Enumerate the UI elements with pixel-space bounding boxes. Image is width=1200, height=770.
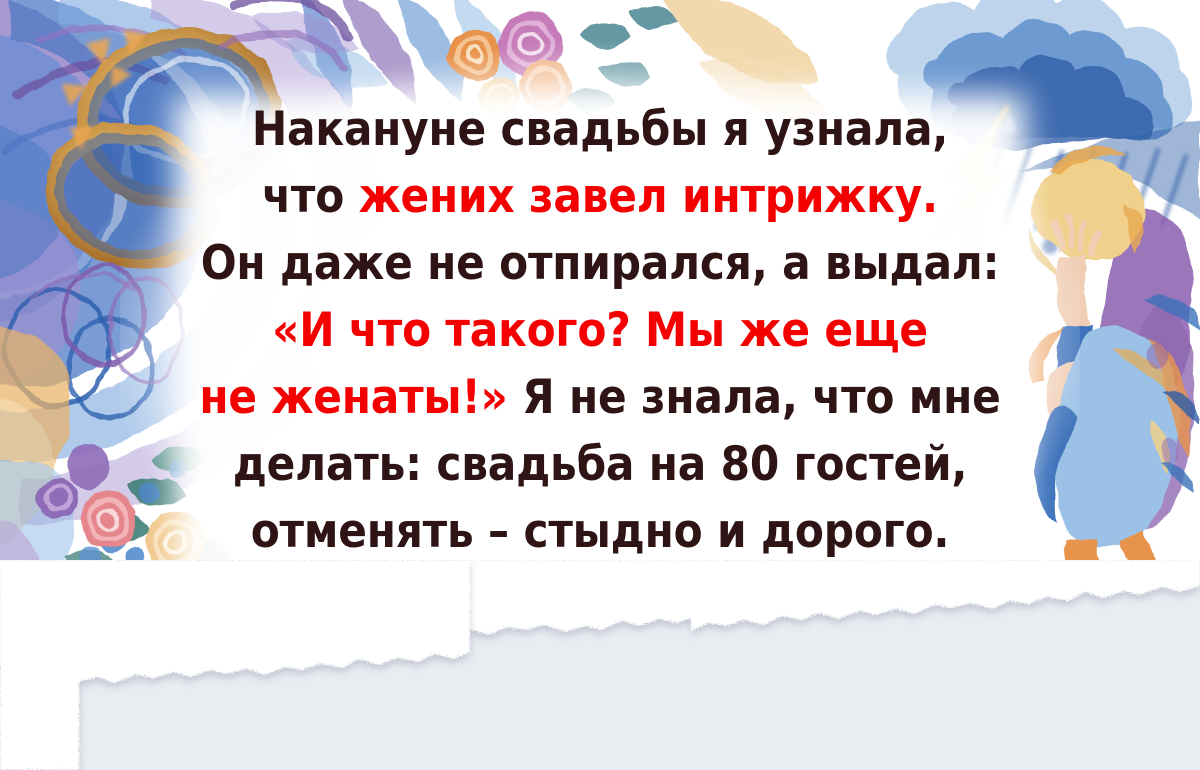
- story-line-1-text: Накануне свадьбы я узнала,: [252, 102, 948, 157]
- story-line-6: делать: свадьба на 80 гостей,: [160, 431, 1040, 498]
- story-line-4: «И что такого? Мы же еще: [160, 297, 1040, 364]
- story-line-6-text: делать: свадьба на 80 гостей,: [233, 437, 968, 492]
- story-card-paper: Накануне свадьбы я узнала, что жених зав…: [0, 0, 1200, 668]
- story-line-8: Рассказала маме. Она не стала: [160, 565, 1040, 632]
- story-line-2: что жених завел интрижку.: [160, 163, 1040, 230]
- story-line-5-highlight: не женаты!»: [199, 370, 507, 425]
- story-line-7-text: отменять – стыдно и дорого.: [251, 504, 950, 559]
- rose-purple: [92, 562, 160, 630]
- story-line-7: отменять – стыдно и дорого.: [160, 498, 1040, 565]
- story-line-8-text: Рассказала маме. Она не стала: [218, 571, 982, 626]
- story-line-5: не женаты!» Я не знала, что мне: [160, 364, 1040, 431]
- story-line-2-text: что: [262, 169, 359, 224]
- story-line-4-highlight: «И что такого? Мы же еще: [272, 303, 928, 358]
- story-line-3-text: Он даже не отпирался, а выдал:: [201, 236, 1000, 291]
- story-text: Накануне свадьбы я узнала, что жених зав…: [160, 96, 1040, 668]
- story-card-canvas: Накануне свадьбы я узнала, что жених зав…: [0, 0, 1200, 770]
- rose-violet-small: [38, 478, 78, 518]
- story-line-9-text: меня жалеть, а взяла и: [316, 638, 884, 668]
- story-line-5-text: Я не знала, что мне: [508, 370, 1001, 425]
- story-line-3: Он даже не отпирался, а выдал:: [160, 230, 1040, 297]
- story-line-2-highlight: жених завел интрижку.: [359, 169, 938, 224]
- story-line-1: Накануне свадьбы я узнала,: [160, 96, 1040, 163]
- story-line-9: меня жалеть, а взяла и: [160, 632, 1040, 668]
- rose-peach: [80, 492, 136, 548]
